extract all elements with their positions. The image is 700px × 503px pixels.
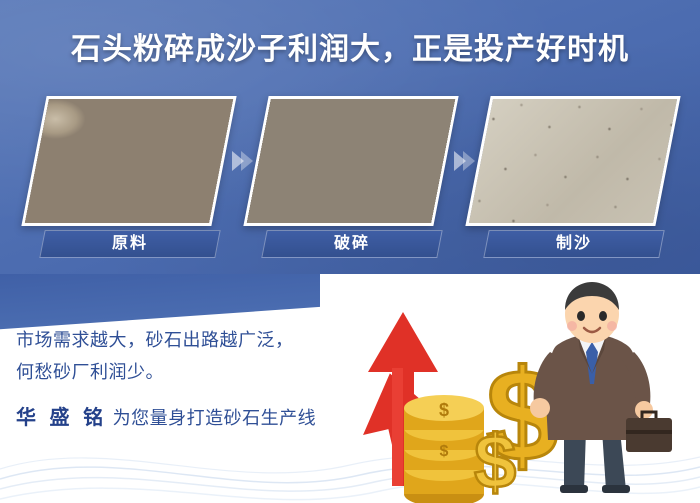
brand-name: 华 盛 铭 <box>16 407 107 429</box>
step-label-crushing: 破碎 <box>261 230 442 258</box>
step-label-text-3: 制沙 <box>487 231 661 257</box>
copy-line-2: 何愁砂厂利润少。 <box>16 356 386 388</box>
businessman-illustration <box>506 280 686 495</box>
promo-poster: 石头粉碎成沙子利润大，正是投产好时机 原料 破碎 <box>0 0 700 503</box>
step-label-sand-making: 制沙 <box>483 230 664 258</box>
svg-text:$: $ <box>439 400 449 420</box>
chevron-right-icon <box>228 148 254 174</box>
bottom-section: $ $ $ $ <box>0 274 700 503</box>
river-pebbles-photo <box>21 96 236 226</box>
brand-line: 华 盛 铭 为您量身打造砂石生产线 <box>16 404 386 432</box>
manufactured-sand-photo <box>465 96 680 226</box>
briefcase-icon <box>626 412 672 452</box>
coin-stack: $ $ <box>404 395 484 503</box>
step-label-raw-material: 原料 <box>39 230 220 258</box>
blue-wedge-decoration <box>0 274 320 330</box>
chevron-right-icon-2 <box>450 148 476 174</box>
crushed-gravel-photo <box>243 96 458 226</box>
copy-block: 市场需求越大，砂石出路越广泛， 何愁砂厂利润少。 华 盛 铭 为您量身打造砂石生… <box>16 324 386 432</box>
page-title: 石头粉碎成沙子利润大，正是投产好时机 <box>0 24 700 68</box>
step-label-text-1: 原料 <box>43 231 217 257</box>
copy-line-1: 市场需求越大，砂石出路越广泛， <box>16 324 386 356</box>
process-photo-row: 原料 破碎 制沙 <box>0 96 700 256</box>
svg-text:$: $ <box>440 443 449 460</box>
brand-tagline: 为您量身打造砂石生产线 <box>113 408 317 428</box>
step-label-text-2: 破碎 <box>265 231 439 257</box>
